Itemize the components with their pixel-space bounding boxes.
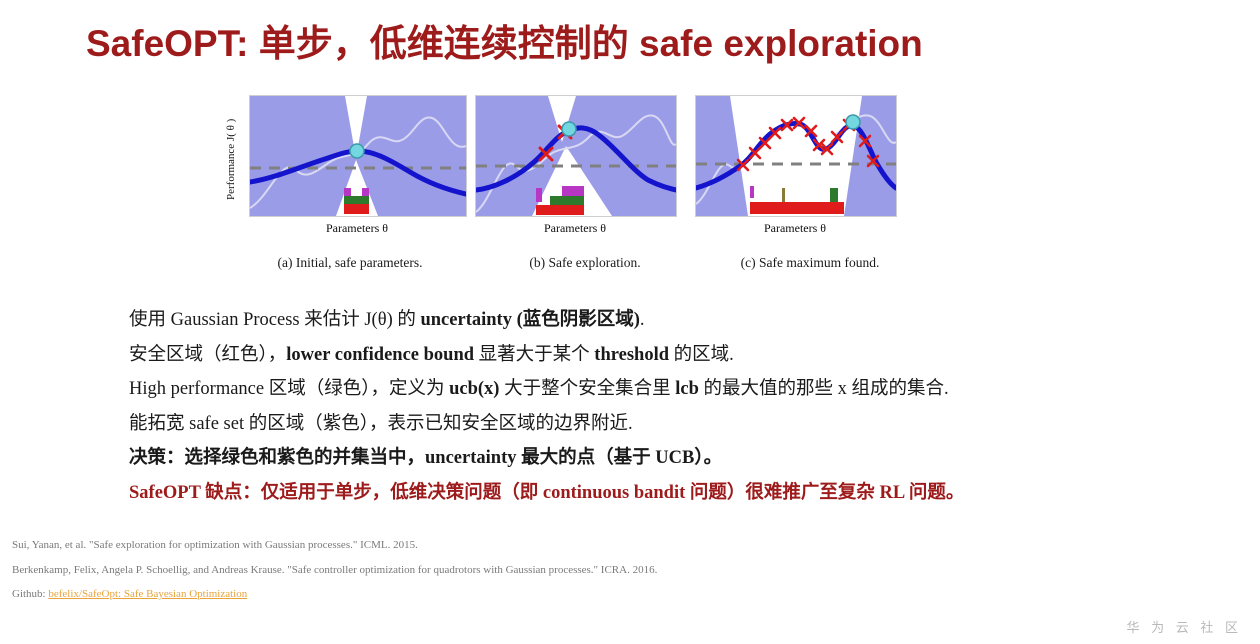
body-line-3: High performance 区域（绿色），定义为 ucb(x) 大于整个安… xyxy=(129,372,1139,407)
expander-bar-c xyxy=(750,186,754,198)
maximizer-bar-c xyxy=(830,188,838,204)
plot-c-svg xyxy=(696,96,896,216)
figure-x-axis-label-b: Parameters θ xyxy=(475,221,675,236)
body-line-1: 使用 Gaussian Process 来估计 J(θ) 的 uncertain… xyxy=(129,303,1139,338)
body-line-5: 决策：选择绿色和紫色的并集当中，uncertainty 最大的点（基于 UCB）… xyxy=(129,441,1139,476)
watermark: 华 为 云 社 区 xyxy=(1127,617,1242,636)
maximum-marker-c xyxy=(846,115,860,129)
reference-item-2: Berkenkamp, Felix, Angela P. Schoellig, … xyxy=(12,558,1112,583)
maximum-marker-b xyxy=(562,122,576,136)
figure-caption-a: (a) Initial, safe parameters. xyxy=(225,255,475,271)
page-title: SafeOPT: 单步，低维连续控制的 safe exploration xyxy=(86,22,1176,66)
body-text: 使用 Gaussian Process 来估计 J(θ) 的 uncertain… xyxy=(129,303,1139,510)
figure-panel-b: Parameters θ xyxy=(475,95,695,236)
reference-item-1: Sui, Yanan, et al. "Safe exploration for… xyxy=(12,533,1112,558)
maximizer-bar-b xyxy=(550,196,584,205)
figure-panel-a: Performance J( θ ) xyxy=(225,95,475,236)
safe-set-bar-a xyxy=(344,204,369,214)
body-line-4: 能拓宽 safe set 的区域（紫色），表示已知安全区域的边界附近. xyxy=(129,407,1139,442)
plot-c xyxy=(695,95,897,217)
maximum-marker-a xyxy=(350,144,364,158)
plot-a xyxy=(249,95,467,217)
plot-a-svg xyxy=(250,96,466,216)
figure-y-axis-label: Performance J( θ ) xyxy=(223,99,239,219)
expander-bar-b-right xyxy=(562,186,584,196)
references: Sui, Yanan, et al. "Safe exploration for… xyxy=(12,533,1112,607)
safe-set-bar-c xyxy=(750,202,844,214)
github-link[interactable]: befelix/SafeOpt: Safe Bayesian Optimizat… xyxy=(48,588,247,600)
safe-set-bar-b xyxy=(536,205,584,215)
body-line-warning: SafeOPT 缺点：仅适用于单步，低维决策问题（即 continuous ba… xyxy=(129,476,1139,511)
figure-caption-c: (c) Safe maximum found. xyxy=(695,255,925,271)
figure-x-axis-label-a: Parameters θ xyxy=(249,221,465,236)
body-line-2: 安全区域（红色），lower confidence bound 显著大于某个 t… xyxy=(129,338,1139,373)
plot-b xyxy=(475,95,677,217)
figure-x-axis-label-c: Parameters θ xyxy=(695,221,895,236)
reference-github-row: Github: befelix/SafeOpt: Safe Bayesian O… xyxy=(12,582,1112,607)
plot-b-svg xyxy=(476,96,676,216)
figure-panel-c: Parameters θ xyxy=(695,95,915,236)
marker-bar-c xyxy=(782,188,785,202)
figure-panels: Performance J( θ ) xyxy=(225,95,915,236)
figure-block: Performance J( θ ) xyxy=(225,95,925,275)
figure-caption-b: (b) Safe exploration. xyxy=(475,255,695,271)
figure-captions: (a) Initial, safe parameters. (b) Safe e… xyxy=(225,255,925,271)
github-label: Github: xyxy=(12,588,48,600)
expander-bar-b-left xyxy=(536,188,542,202)
